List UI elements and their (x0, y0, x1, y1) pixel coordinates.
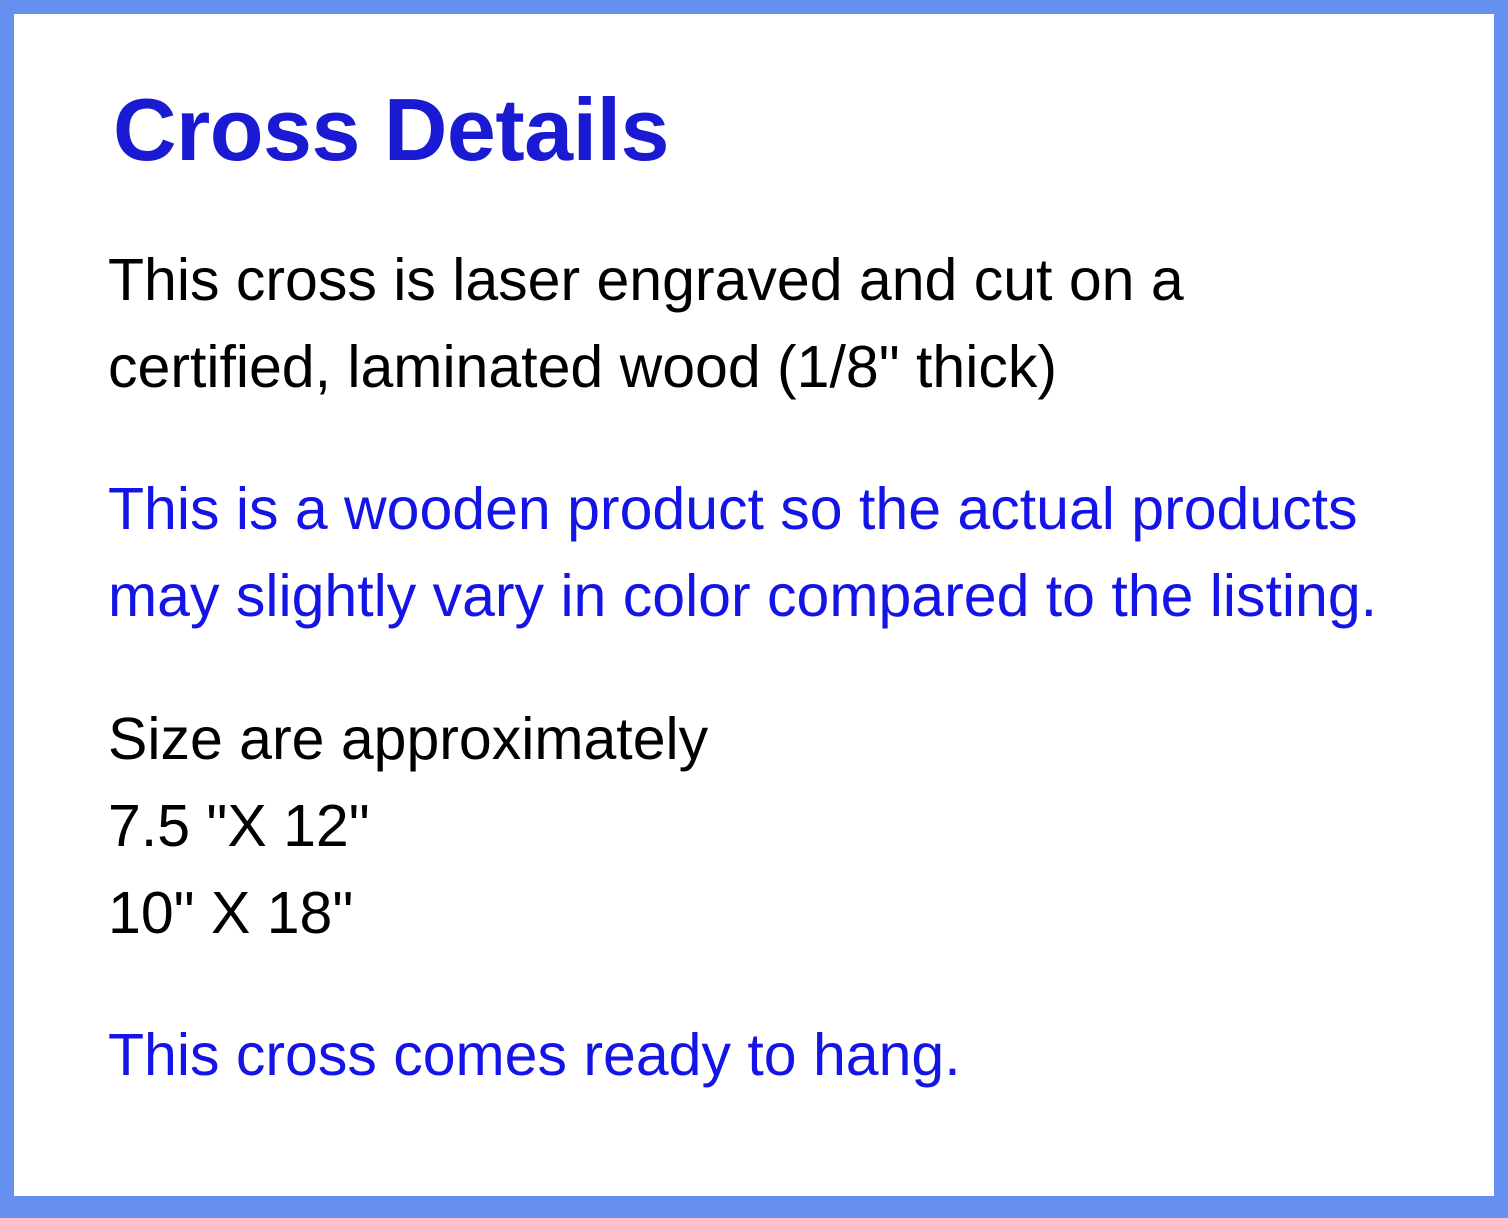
spacer-after-construction (108, 411, 1486, 466)
paragraph-sizes: Size are approximately 7.5 "X 12" 10" X … (108, 696, 1486, 957)
paragraph-color-disclaimer: This is a wooden product so the actual p… (108, 466, 1486, 640)
paragraph-color-disclaimer-line-1: This is a wooden product so the actual p… (108, 466, 1486, 553)
spacer-after-title (108, 174, 1486, 237)
page-title: Cross Details (113, 86, 1486, 174)
paragraph-construction-line-1: This cross is laser engraved and cut on … (108, 237, 1486, 324)
size-option-small: 7.5 "X 12" (108, 783, 1486, 870)
info-card-frame: Cross Details This cross is laser engrav… (0, 0, 1508, 1218)
info-card: Cross Details This cross is laser engrav… (14, 14, 1494, 1196)
spacer-after-sizes (108, 957, 1486, 1012)
paragraph-color-disclaimer-line-2: may slightly vary in color compared to t… (108, 553, 1486, 640)
spacer-after-color-disclaimer (108, 640, 1486, 696)
card-content: Cross Details This cross is laser engrav… (108, 86, 1486, 1099)
paragraph-construction-line-2: certified, laminated wood (1/8" thick) (108, 324, 1486, 411)
size-option-large: 10" X 18" (108, 870, 1486, 957)
paragraph-construction: This cross is laser engraved and cut on … (108, 237, 1486, 411)
paragraph-hanging-line-1: This cross comes ready to hang. (108, 1012, 1486, 1099)
paragraph-hanging: This cross comes ready to hang. (108, 1012, 1486, 1099)
sizes-heading: Size are approximately (108, 696, 1486, 783)
